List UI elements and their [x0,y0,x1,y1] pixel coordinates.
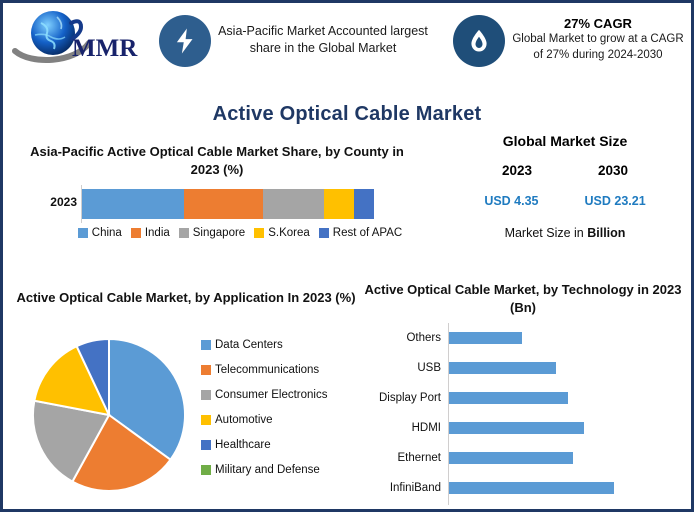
application-legend-label: Military and Defense [215,464,320,476]
application-pie [29,335,189,495]
application-legend: Data CentersTelecommunicationsConsumer E… [201,339,361,489]
year-2023-label: 2023 [502,163,532,178]
application-legend-label: Data Centers [215,339,283,351]
application-legend-item: Healthcare [201,439,361,451]
legend-swatch-icon [131,228,141,238]
mmr-logo: MMR [11,7,151,69]
cagr-title: 27% CAGR [509,15,687,32]
apac-legend-label: India [145,227,170,239]
legend-swatch-icon [201,465,211,475]
application-legend-item: Consumer Electronics [201,389,361,401]
apac-legend-item: India [131,227,170,239]
apac-segment-singapore [263,189,324,219]
apac-segment-china [82,189,184,219]
application-share-chart-title: Active Optical Cable Market, by Applicat… [11,289,361,307]
legend-swatch-icon [201,365,211,375]
year-2030-label: 2030 [598,163,628,178]
global-market-size-years: 2023 2030 [441,163,689,178]
apac-segment-rest-of-apac [354,189,374,219]
apac-legend-label: Singapore [193,227,245,239]
technology-bar-row: Others [355,323,691,353]
technology-bar-infiniband [449,482,614,494]
apac-legend-item: Rest of APAC [319,227,402,239]
application-share-chart: Active Optical Cable Market, by Applicat… [11,289,361,509]
technology-bar-row: HDMI [355,413,691,443]
technology-bar-hdmi [449,422,584,434]
globe-swoosh-icon: MMR [11,7,151,69]
apac-legend-item: S.Korea [254,227,310,239]
apac-legend-label: S.Korea [268,227,310,239]
header-highlight-text: Asia-Pacific Market Accounted largest sh… [217,23,429,57]
apac-stacked-bar [82,189,374,219]
legend-swatch-icon [201,440,211,450]
technology-bar-row: Ethernet [355,443,691,473]
apac-segment-s-korea [324,189,353,219]
technology-plot: OthersUSBDisplay PortHDMIEthernetInfiniB… [355,323,691,505]
technology-bar-display-port [449,392,568,404]
legend-swatch-icon [78,228,88,238]
legend-swatch-icon [201,390,211,400]
application-legend-label: Automotive [215,414,273,426]
technology-category-label: HDMI [355,422,448,434]
technology-category-label: Others [355,332,448,344]
flame-drop-icon [465,27,493,55]
technology-bar-others [449,332,522,344]
global-market-size-title: Global Market Size [441,133,689,149]
flame-badge [453,15,505,67]
technology-bar-row: Display Port [355,383,691,413]
application-legend-label: Consumer Electronics [215,389,327,401]
value-2030: USD 23.21 [585,194,646,208]
technology-category-label: Display Port [355,392,448,404]
application-legend-item: Automotive [201,414,361,426]
legend-swatch-icon [254,228,264,238]
technology-bar-row: USB [355,353,691,383]
apac-legend-item: China [78,227,122,239]
technology-share-chart-title: Active Optical Cable Market, by Technolo… [355,281,691,317]
value-2023: USD 4.35 [484,194,538,208]
legend-swatch-icon [319,228,329,238]
apac-share-chart-title: Asia-Pacific Active Optical Cable Market… [17,143,417,179]
cagr-block: 27% CAGR Global Market to grow at a CAGR… [509,15,687,63]
application-legend-label: Healthcare [215,439,271,451]
infographic-canvas: MMR Asia-Pacific Market Accounted larges… [0,0,694,512]
global-market-size-panel: Global Market Size 2023 2030 USD 4.35 US… [441,133,689,253]
unit-note-bold: Billion [587,226,625,240]
technology-bar-row: InfiniBand [355,473,691,503]
application-legend-item: Military and Defense [201,464,361,476]
technology-category-label: InfiniBand [355,482,448,494]
legend-swatch-icon [179,228,189,238]
legend-swatch-icon [201,340,211,350]
application-legend-item: Telecommunications [201,364,361,376]
apac-legend-item: Singapore [179,227,245,239]
header-bar: MMR Asia-Pacific Market Accounted larges… [3,3,691,91]
technology-category-label: Ethernet [355,452,448,464]
apac-legend: ChinaIndiaSingaporeS.KoreaRest of APAC [65,227,415,239]
apac-category-label: 2023 [31,195,77,209]
apac-segment-india [184,189,263,219]
application-legend-item: Data Centers [201,339,361,351]
unit-note-prefix: Market Size in [505,226,588,240]
technology-bar-usb [449,362,556,374]
apac-legend-label: China [92,227,122,239]
logo-wordmark: MMR [72,35,138,62]
apac-share-chart: Asia-Pacific Active Optical Cable Market… [17,143,417,253]
application-legend-label: Telecommunications [215,364,319,376]
global-market-size-values: USD 4.35 USD 23.21 [441,194,689,208]
page-title: Active Optical Cable Market [3,103,691,126]
technology-bar-ethernet [449,452,573,464]
apac-share-plot: 2023 [17,185,417,223]
lightning-bolt-icon [170,26,200,56]
cagr-subtitle: Global Market to grow at a CAGR of 27% d… [509,32,687,63]
legend-swatch-icon [201,415,211,425]
technology-share-chart: Active Optical Cable Market, by Technolo… [355,281,691,509]
apac-legend-label: Rest of APAC [333,227,402,239]
market-size-unit-note: Market Size in Billion [441,226,689,240]
technology-category-label: USB [355,362,448,374]
lightning-bolt-badge [159,15,211,67]
